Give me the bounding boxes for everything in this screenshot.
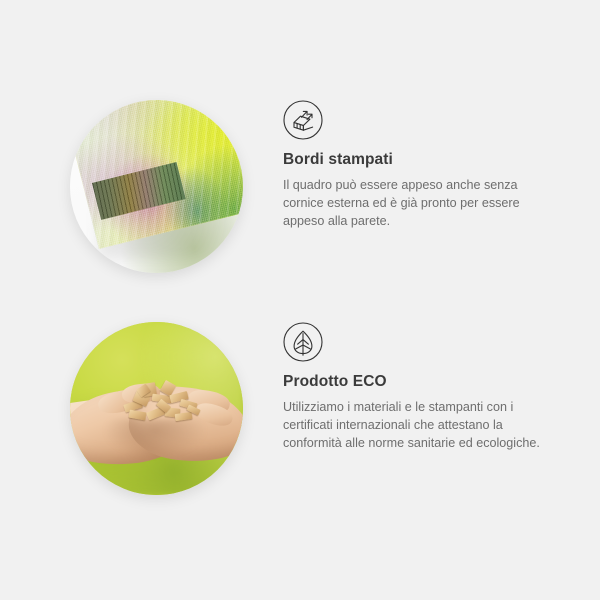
canvas-wrapped-edge-icon [283, 100, 323, 140]
feature-title-printed-edges: Bordi stampati [283, 151, 568, 170]
leaf-icon [283, 322, 323, 362]
feature-title-eco-product: Prodotto ECO [283, 373, 568, 392]
feature-description-printed-edges: Il quadro può essere appeso anche senza … [283, 176, 551, 231]
wood-chip [128, 410, 146, 421]
product-feature-panel: Bordi stampati Il quadro può essere appe… [0, 0, 600, 600]
canvas-print-corner-photo [70, 100, 243, 273]
wood-chips-pile [122, 379, 205, 431]
eco-photo-content [70, 322, 243, 495]
printed-edges-text-column: Bordi stampati Il quadro può essere appe… [283, 100, 568, 230]
hands-holding-wood-chips-photo [70, 322, 243, 495]
wood-chip [175, 412, 192, 421]
eco-product-text-column: Prodotto ECO Utilizziamo i materiali e l… [283, 322, 568, 452]
canvas-photo-background [70, 100, 243, 273]
feature-description-eco-product: Utilizziamo i materiali e le stampanti c… [283, 398, 551, 453]
